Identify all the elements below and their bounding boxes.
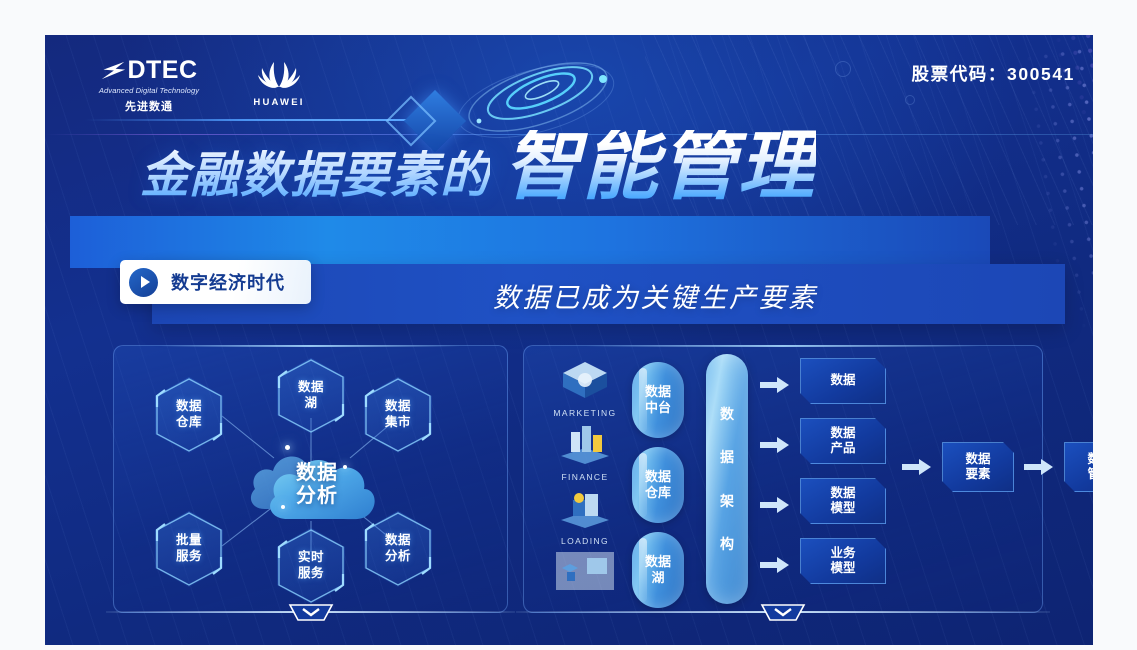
source-caption: MARKETING	[542, 408, 628, 418]
tail-label-2: 管理	[1087, 467, 1093, 481]
capsule-label-2: 湖	[651, 570, 664, 585]
dtec-wordmark: DTEC	[127, 58, 197, 83]
left-diagram-panel: 数据湖 数据集市 数据分析	[113, 345, 508, 613]
capsule-label-2: 中台	[645, 400, 671, 415]
node-batch-service[interactable]: 批量服务	[155, 511, 223, 587]
source-item-marketing[interactable]: MARKETING	[542, 358, 628, 420]
node-label-2: 仓库	[176, 415, 202, 429]
center-cloud-node[interactable]: 数据 分析	[247, 431, 375, 527]
node-label-1: 数据	[385, 399, 411, 413]
source-item-finance[interactable]: FINANCE	[542, 422, 628, 484]
panel-chevron-marker-icon	[760, 603, 806, 623]
tail-label-1: 数据	[965, 452, 990, 466]
node-label-2: 湖	[304, 396, 317, 410]
output-label-2: 模型	[830, 561, 855, 575]
source-item-extra[interactable]	[542, 550, 628, 600]
source-icon-column: MARKETING FINANCE LOADING	[542, 358, 628, 602]
output-label-1: 业务	[830, 546, 855, 560]
output-label-1: 数据	[830, 426, 855, 440]
right-arrow-icon	[760, 556, 790, 574]
output-box-data-product[interactable]: 数据产品	[800, 418, 886, 464]
right-arrow-icon	[760, 496, 790, 514]
output-box-data-model[interactable]: 数据模型	[800, 478, 886, 524]
node-label-1: 数据	[385, 533, 411, 547]
capsule-label-1: 数据	[645, 469, 671, 484]
banner-tag-pill[interactable]: 数字经济时代	[120, 260, 311, 304]
dtec-tagline: Advanced Digital Technology	[85, 86, 213, 95]
output-label-1: 数据	[830, 486, 855, 500]
tail-label-1: 数据	[1087, 452, 1093, 466]
architecture-char-2: 据	[720, 447, 734, 467]
capsule-data-lake[interactable]: 数据湖	[632, 532, 684, 608]
decor-circle-1	[835, 61, 851, 77]
cloud-label-2: 分析	[296, 485, 338, 508]
tail-chain: 数据要素 数据管理	[902, 442, 1093, 492]
huawei-petal-mark-icon	[257, 59, 301, 89]
isometric-chart-icon	[555, 422, 615, 466]
right-arrow-icon	[760, 376, 790, 394]
source-item-loading[interactable]: LOADING	[542, 486, 628, 548]
right-arrow-icon	[1024, 458, 1054, 476]
output-label-1: 数据	[830, 373, 855, 387]
node-label-1: 实时	[298, 550, 324, 564]
page-title: 金融数据要素的 智能管理	[140, 130, 816, 207]
cloud-label-1: 数据	[296, 462, 338, 485]
node-label-1: 批量	[176, 533, 202, 547]
title-line-big: 智能管理	[504, 130, 816, 202]
title-line-small: 金融数据要素的	[140, 136, 490, 207]
huawei-logo: HUAWEI	[249, 58, 309, 108]
capsule-data-warehouse[interactable]: 数据仓库	[632, 447, 684, 523]
tail-box-data-element[interactable]: 数据要素	[942, 442, 1014, 492]
node-data-lake[interactable]: 数据湖	[277, 358, 345, 434]
title-accent-line	[195, 119, 405, 121]
capsule-data-midplatform[interactable]: 数据中台	[632, 362, 684, 438]
play-circle-icon	[129, 268, 158, 297]
isometric-loading-icon	[555, 486, 615, 530]
node-label-1: 数据	[298, 380, 324, 394]
section-banner: 数字经济时代 数据已成为关键生产要素	[70, 216, 1065, 326]
dtec-logo: DTEC Advanced Digital Technology 先进数通	[85, 58, 213, 114]
dtec-arrow-mark-icon	[100, 60, 126, 81]
node-label-2: 集市	[385, 415, 411, 429]
isometric-cube-icon	[555, 358, 615, 402]
output-label-2: 模型	[830, 501, 855, 515]
node-label-2: 分析	[385, 549, 411, 563]
logo-group: DTEC Advanced Digital Technology 先进数通 HU…	[85, 58, 309, 114]
node-realtime-service[interactable]: 实时服务	[277, 528, 345, 604]
capsule-column: 数据中台 数据仓库 数据湖	[632, 362, 684, 617]
tail-label-2: 要素	[965, 467, 990, 481]
capsule-label-1: 数据	[645, 554, 671, 569]
capsule-label-1: 数据	[645, 384, 671, 399]
right-arrow-icon	[902, 458, 932, 476]
right-diagram-panel: MARKETING FINANCE LOADING	[523, 345, 1043, 613]
stock-code-label: 股票代码：300541	[912, 61, 1076, 86]
node-label-2: 服务	[176, 549, 202, 563]
dtec-chinese-name: 先进数通	[85, 98, 213, 114]
tail-box-data-management[interactable]: 数据管理	[1064, 442, 1093, 492]
output-box-data[interactable]: 数据	[800, 358, 886, 404]
architecture-char-1: 数	[720, 404, 734, 424]
right-arrow-icon	[760, 436, 790, 454]
source-caption: FINANCE	[542, 472, 628, 482]
output-column: 数据 数据产品 数据模型 业务模型	[800, 358, 888, 598]
node-label-2: 服务	[298, 566, 324, 580]
panel-top-glow	[586, 345, 980, 347]
capsule-label-2: 仓库	[645, 485, 671, 500]
banner-headline: 数据已成为关键生产要素	[493, 276, 818, 315]
node-label-1: 数据	[176, 399, 202, 413]
output-label-2: 产品	[830, 441, 855, 455]
isometric-screen-icon	[554, 550, 616, 592]
source-caption: LOADING	[542, 536, 628, 546]
huawei-wordmark: HUAWEI	[249, 97, 309, 108]
architecture-char-4: 构	[720, 534, 734, 554]
panel-chevron-marker-icon	[288, 603, 334, 623]
decor-circle-2	[905, 95, 915, 105]
banner-tag-label: 数字经济时代	[171, 269, 285, 295]
architecture-char-3: 架	[720, 491, 734, 511]
output-box-business-model[interactable]: 业务模型	[800, 538, 886, 584]
node-data-warehouse[interactable]: 数据仓库	[155, 377, 223, 453]
slide-stage: DTEC Advanced Digital Technology 先进数通 HU…	[45, 35, 1093, 645]
architecture-pillar[interactable]: 数 据 架 构	[706, 354, 748, 604]
